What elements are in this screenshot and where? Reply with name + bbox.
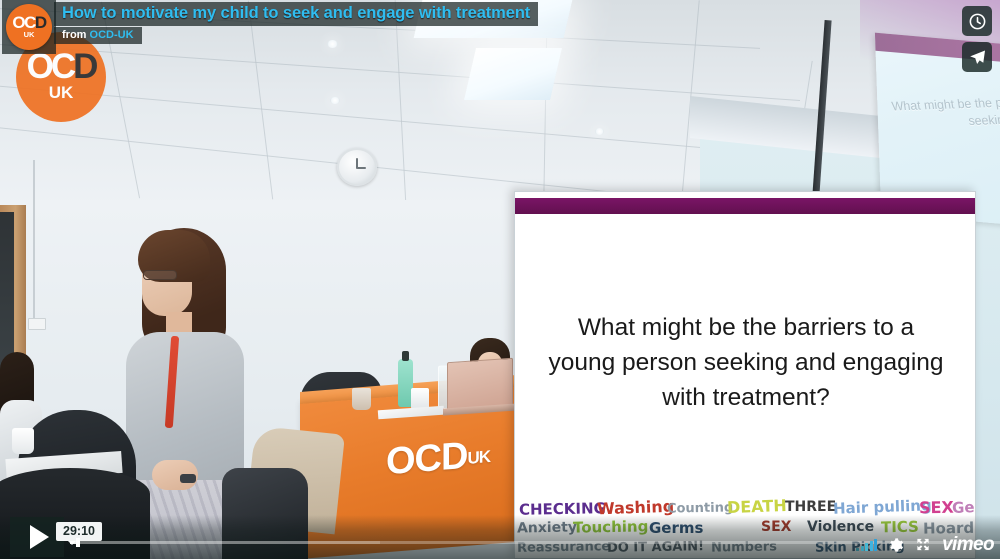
ceiling-spotlight-3 [595,128,604,135]
quality-bar [865,543,868,551]
owner-avatar[interactable]: OCD UK [6,4,52,50]
share-button[interactable] [962,42,992,72]
quality-bar [874,539,877,551]
slide-question-text: What might be the barriers to a young pe… [545,310,947,415]
clock-icon [968,12,987,31]
avatar-logo-sub: UK [24,30,35,39]
avatar-logo-text: OCD [12,16,45,30]
table-logo-sub: UK [467,447,490,468]
ceiling-spotlight-2 [330,97,340,104]
slide-header-bar [515,198,975,214]
projected-slide-text: What might be the person seeking trea [884,93,1000,133]
byline-owner-link[interactable]: OCD-UK [90,29,134,41]
video-title[interactable]: How to motivate my child to seek and eng… [62,4,530,22]
collage-word: THREE [785,499,836,515]
video-title-bar[interactable]: How to motivate my child to seek and eng… [54,2,538,26]
quality-bar [856,548,859,551]
wall-clock [337,148,377,186]
watch-later-button[interactable] [962,6,992,36]
vimeo-player[interactable]: What might be the person seeking trea [0,0,1000,559]
collage-word: DEATH [727,496,787,517]
video-byline: from OCD-UK [54,27,142,44]
quality-icon[interactable] [856,538,877,551]
presenter-glasses [143,270,177,280]
fullscreen-icon[interactable] [915,537,931,552]
collage-word: Germs [952,497,975,517]
paper-plane-icon [968,48,987,67]
gear-icon[interactable] [888,537,904,553]
corner-action-group [962,6,992,72]
quality-bar [870,541,873,551]
cup-left [12,428,34,454]
table-logo-main: OCD [386,435,467,483]
player-controls: 29:10 vimeo [0,515,1000,559]
play-icon [30,525,49,549]
right-control-group: vimeo [856,535,994,554]
ceiling-panel-light-2 [464,48,562,100]
quality-bar [861,546,864,551]
watermark-logo-sub: UK [49,83,74,103]
presenter-wristwatch [180,474,196,483]
coffee-cup [352,388,371,410]
vimeo-logo[interactable]: vimeo [942,535,994,554]
progress-buffered [70,541,380,544]
wall-socket [28,318,46,330]
laptop-screen [447,358,513,411]
watermark-logo-text: OCD [27,51,96,83]
progress-scrubber[interactable] [76,538,80,547]
byline-prefix: from [62,29,86,41]
ceiling-spotlight-1 [327,40,338,48]
white-cup [411,388,429,409]
wall-cable [33,160,35,320]
slide-overlay: What might be the barriers to a young pe… [514,191,976,559]
